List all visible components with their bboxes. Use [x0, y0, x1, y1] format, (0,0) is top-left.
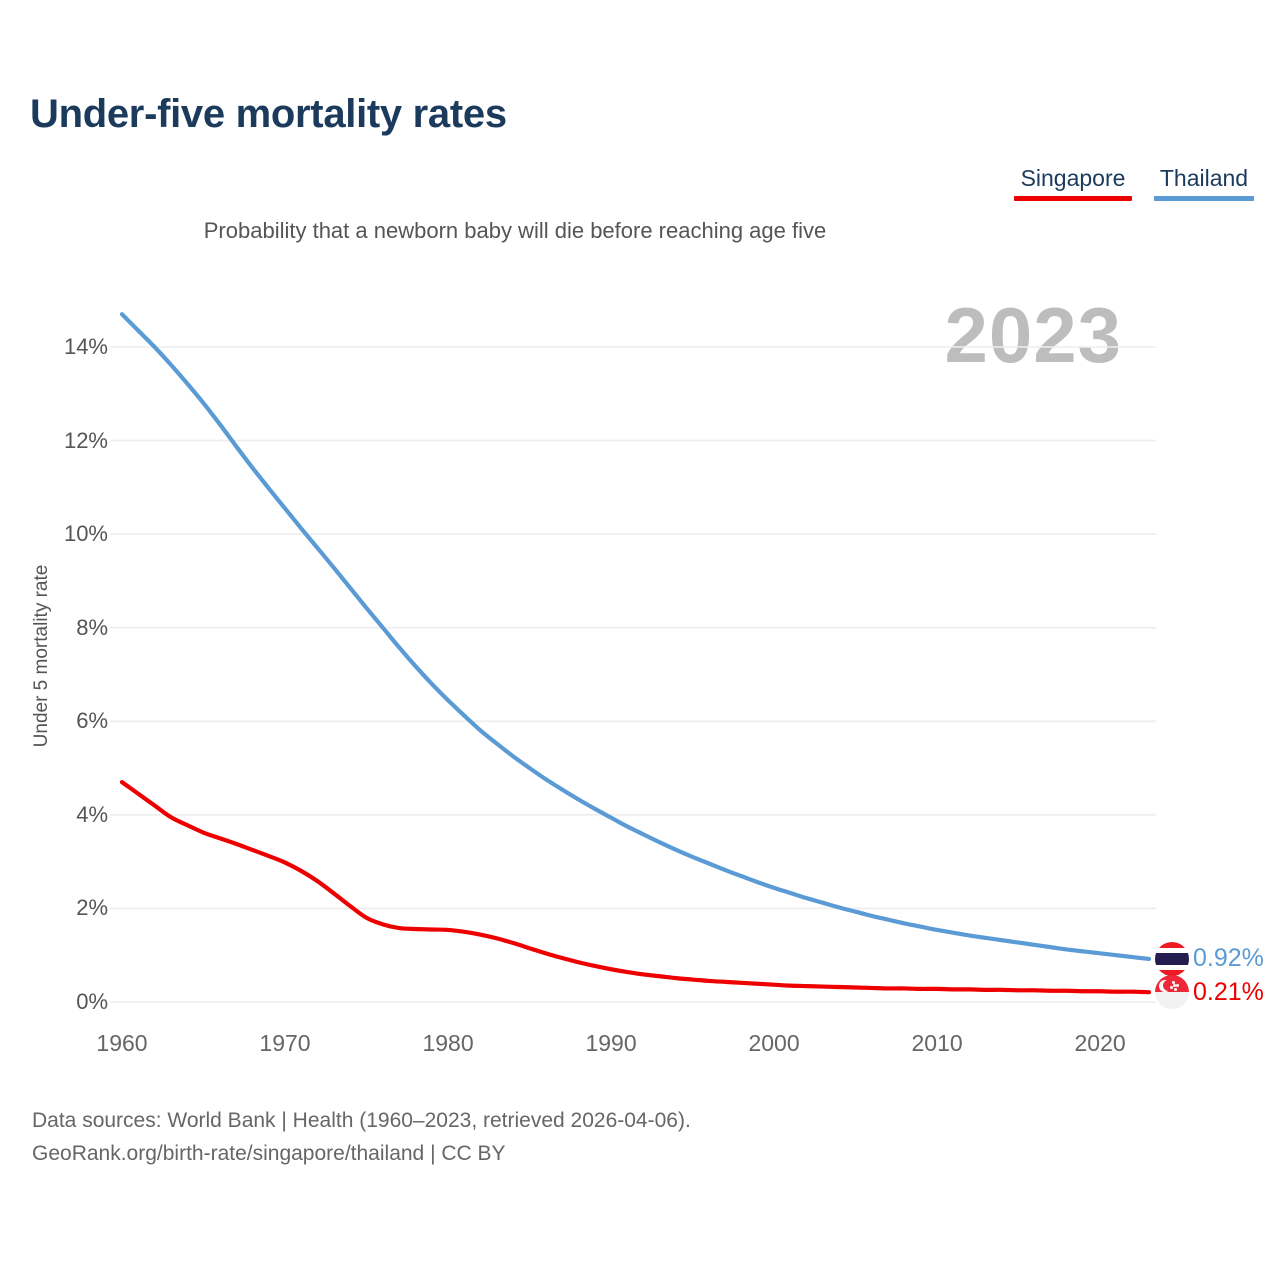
y-tick-6: 6% — [0, 708, 118, 734]
legend-label-thailand: Thailand — [1154, 165, 1254, 193]
x-tick-2000: 2000 — [748, 1030, 799, 1057]
x-tick-1970: 1970 — [259, 1030, 310, 1057]
legend-color-rule-thailand — [1154, 196, 1254, 201]
y-tick-4: 4% — [0, 802, 118, 828]
legend-item-singapore[interactable]: Singapore — [1014, 165, 1132, 201]
x-tick-1980: 1980 — [422, 1030, 473, 1057]
x-tick-2010: 2010 — [911, 1030, 962, 1057]
series-line-thailand — [122, 314, 1149, 959]
end-value-thailand: 0.92% — [1193, 944, 1264, 973]
thailand-flag-icon — [1155, 942, 1189, 976]
x-tick-1960: 1960 — [96, 1030, 147, 1057]
chart-legend: Singapore Thailand — [1014, 165, 1254, 201]
page-title: Under-five mortality rates — [30, 92, 507, 137]
y-tick-8: 8% — [0, 615, 118, 641]
legend-color-rule-singapore — [1014, 196, 1132, 201]
y-tick-14: 14% — [0, 334, 118, 360]
y-tick-10: 10% — [0, 521, 118, 547]
end-label-singapore: 0.21% — [1155, 975, 1264, 1009]
end-label-thailand: 0.92% — [1155, 942, 1264, 976]
x-tick-1990: 1990 — [585, 1030, 636, 1057]
footer-credits: Data sources: World Bank | Health (1960–… — [32, 1105, 691, 1170]
footer-line-2: GeoRank.org/birth-rate/singapore/thailan… — [32, 1138, 691, 1171]
series-line-singapore — [122, 782, 1149, 992]
y-tick-12: 12% — [0, 428, 118, 454]
y-tick-2: 2% — [0, 895, 118, 921]
chart-subtitle: Probability that a newborn baby will die… — [0, 218, 1280, 244]
footer-line-1: Data sources: World Bank | Health (1960–… — [32, 1105, 691, 1138]
x-tick-2020: 2020 — [1075, 1030, 1126, 1057]
legend-label-singapore: Singapore — [1014, 165, 1132, 193]
legend-item-thailand[interactable]: Thailand — [1154, 165, 1254, 201]
end-value-singapore: 0.21% — [1193, 978, 1264, 1007]
singapore-flag-icon — [1155, 975, 1189, 1009]
year-watermark: 2023 — [944, 296, 1122, 374]
y-tick-0: 0% — [0, 989, 118, 1015]
chart-page: Under-five mortality rates Singapore Tha… — [0, 0, 1280, 1280]
